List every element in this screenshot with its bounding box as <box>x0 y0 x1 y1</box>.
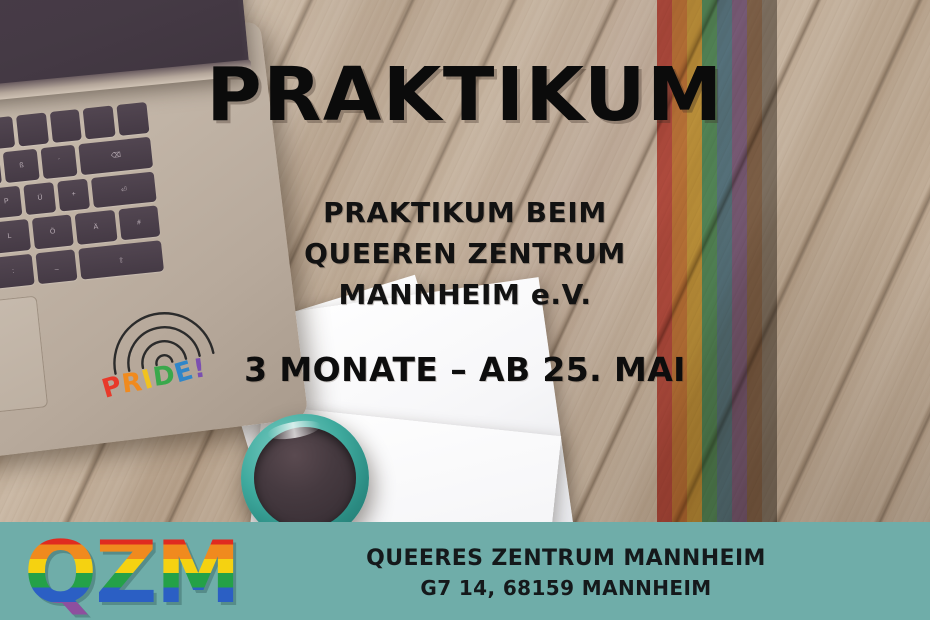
footer-bar: QZM QUEERES ZENTRUM MANNHEIM G7 14, 6815… <box>0 522 930 620</box>
qzm-logo: QZM <box>24 530 256 616</box>
poster-headline: PRAKTIKUM <box>0 52 930 138</box>
subheading-line: MANNHEIM e.V. <box>0 274 930 315</box>
keyboard-key: ß <box>3 148 40 182</box>
poster-subheading: PRAKTIKUM BEIM QUEEREN ZENTRUM MANNHEIM … <box>0 192 930 315</box>
poster-canvas: · 7 8 9 0 ß ´ <box>0 0 930 620</box>
coffee-surface <box>254 427 356 529</box>
subheading-line: PRAKTIKUM BEIM <box>0 192 930 233</box>
keyboard-key: ´ <box>41 144 78 178</box>
organization-address: G7 14, 68159 MANNHEIM <box>256 576 876 600</box>
keyboard-key: 0 <box>0 152 2 186</box>
poster-dateline: 3 MONATE – AB 25. MAI <box>0 350 930 389</box>
qzm-logo-text: QZM <box>24 530 256 616</box>
organization-name: QUEERES ZENTRUM MANNHEIM <box>256 546 876 571</box>
keyboard-key-backspace: ⌫ <box>79 137 153 175</box>
footer-contact-block: QUEERES ZENTRUM MANNHEIM G7 14, 68159 MA… <box>256 546 876 600</box>
subheading-line: QUEEREN ZENTRUM <box>0 233 930 274</box>
